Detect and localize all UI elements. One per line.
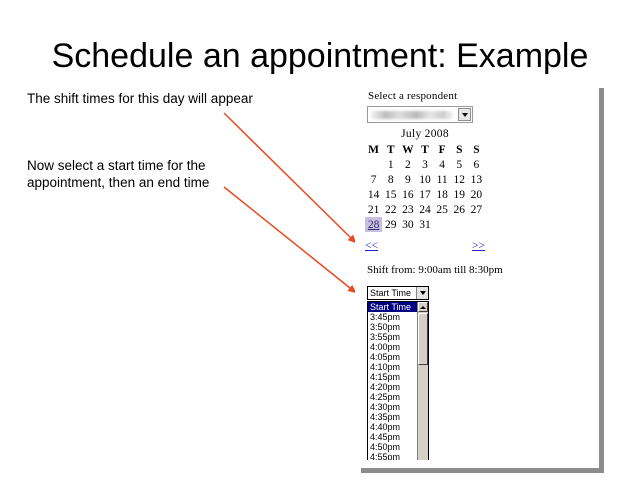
start-time-option[interactable]: 4:15pm — [368, 372, 418, 382]
calendar: July 2008 M T W T F S S 1 2 3 — [365, 128, 485, 232]
scroll-up-icon[interactable] — [418, 302, 428, 312]
screenshot-bottom-clip — [355, 460, 599, 468]
calendar-day[interactable]: 12 — [451, 172, 468, 187]
start-time-option[interactable]: 4:05pm — [368, 352, 418, 362]
start-time-option[interactable]: 4:10pm — [368, 362, 418, 372]
calendar-day — [434, 217, 451, 232]
calendar-day[interactable]: 23 — [399, 202, 416, 217]
scrollbar-thumb[interactable] — [418, 313, 428, 365]
calendar-weekday: F — [434, 143, 451, 157]
calendar-day[interactable]: 20 — [468, 187, 485, 202]
calendar-day[interactable]: 19 — [451, 187, 468, 202]
respondent-value-redacted — [371, 111, 453, 119]
calendar-week-row: 21 22 23 24 25 26 27 — [365, 202, 485, 217]
calendar-day[interactable]: 10 — [416, 172, 433, 187]
calendar-next-link[interactable]: >> — [472, 240, 485, 252]
calendar-weekday: S — [468, 143, 485, 157]
calendar-week-row: 1 2 3 4 5 6 — [365, 157, 485, 172]
calendar-day[interactable]: 18 — [434, 187, 451, 202]
start-time-option[interactable]: 4:25pm — [368, 392, 418, 402]
embedded-screenshot: Select a respondent July 2008 M T W T F … — [355, 82, 599, 467]
calendar-day[interactable]: 11 — [434, 172, 451, 187]
calendar-day[interactable]: 27 — [468, 202, 485, 217]
shift-hours-text: Shift from: 9:00am till 8:30pm — [367, 264, 503, 276]
page-title: Schedule an appointment: Example — [0, 36, 640, 76]
calendar-weekday: S — [451, 143, 468, 157]
calendar-day[interactable]: 4 — [434, 157, 451, 172]
start-time-option[interactable]: 4:35pm — [368, 412, 418, 422]
calendar-weekday: W — [399, 143, 416, 157]
start-time-option[interactable]: 4:40pm — [368, 422, 418, 432]
calendar-day — [365, 157, 382, 172]
calendar-day[interactable]: 7 — [365, 172, 382, 187]
start-time-option[interactable]: 4:50pm — [368, 442, 418, 452]
calendar-day[interactable]: 17 — [416, 187, 433, 202]
calendar-week-row: 28 29 30 31 — [365, 217, 485, 232]
start-time-listbox[interactable]: Start Time 3:45pm 3:50pm 3:55pm 4:00pm 4… — [367, 301, 429, 464]
chevron-down-icon[interactable] — [416, 287, 428, 299]
calendar-weekday-row: M T W T F S S — [365, 143, 485, 157]
calendar-day[interactable]: 5 — [451, 157, 468, 172]
calendar-day[interactable]: 13 — [468, 172, 485, 187]
calendar-weekday: T — [382, 143, 399, 157]
annotation-select-start-time: Now select a start time for the appointm… — [27, 157, 257, 191]
calendar-weekday: M — [365, 143, 382, 157]
calendar-day[interactable]: 31 — [416, 217, 433, 232]
calendar-day[interactable]: 21 — [365, 202, 382, 217]
calendar-day-selected[interactable]: 28 — [365, 217, 382, 232]
respondent-label: Select a respondent — [368, 90, 457, 102]
calendar-day[interactable]: 15 — [382, 187, 399, 202]
calendar-grid: M T W T F S S 1 2 3 4 5 6 — [365, 143, 485, 232]
calendar-weekday: T — [416, 143, 433, 157]
start-time-option[interactable]: 4:30pm — [368, 402, 418, 412]
calendar-day[interactable]: 22 — [382, 202, 399, 217]
start-time-option[interactable]: 4:45pm — [368, 432, 418, 442]
calendar-nav: << >> — [365, 240, 485, 252]
calendar-day[interactable]: 6 — [468, 157, 485, 172]
calendar-day[interactable]: 24 — [416, 202, 433, 217]
chevron-down-icon[interactable] — [458, 108, 471, 121]
calendar-week-row: 14 15 16 17 18 19 20 — [365, 187, 485, 202]
listbox-scrollbar[interactable] — [417, 302, 428, 463]
calendar-day[interactable]: 9 — [399, 172, 416, 187]
start-time-option[interactable]: 4:20pm — [368, 382, 418, 392]
start-time-option[interactable]: 3:45pm — [368, 312, 418, 322]
calendar-day[interactable]: 29 — [382, 217, 399, 232]
start-time-combo-value: Start Time — [370, 288, 411, 299]
calendar-day[interactable]: 25 — [434, 202, 451, 217]
calendar-prev-link[interactable]: << — [365, 240, 378, 252]
calendar-day[interactable]: 14 — [365, 187, 382, 202]
start-time-option[interactable]: 4:00pm — [368, 342, 418, 352]
calendar-day[interactable]: 8 — [382, 172, 399, 187]
calendar-day[interactable]: 2 — [399, 157, 416, 172]
start-time-option[interactable]: Start Time — [368, 302, 418, 312]
calendar-day — [468, 217, 485, 232]
annotation-shift-times: The shift times for this day will appear — [27, 90, 257, 107]
respondent-select[interactable] — [367, 106, 473, 123]
start-time-option[interactable]: 3:50pm — [368, 322, 418, 332]
slide-canvas: Schedule an appointment: Example The shi… — [0, 0, 640, 480]
calendar-day[interactable]: 30 — [399, 217, 416, 232]
calendar-day — [451, 217, 468, 232]
calendar-day[interactable]: 16 — [399, 187, 416, 202]
calendar-week-row: 7 8 9 10 11 12 13 — [365, 172, 485, 187]
calendar-day[interactable]: 26 — [451, 202, 468, 217]
calendar-day[interactable]: 1 — [382, 157, 399, 172]
start-time-combo[interactable]: Start Time — [367, 286, 429, 300]
start-time-option[interactable]: 3:55pm — [368, 332, 418, 342]
calendar-day[interactable]: 3 — [416, 157, 433, 172]
calendar-caption: July 2008 — [365, 128, 485, 143]
start-time-option-list: Start Time 3:45pm 3:50pm 3:55pm 4:00pm 4… — [368, 302, 418, 462]
